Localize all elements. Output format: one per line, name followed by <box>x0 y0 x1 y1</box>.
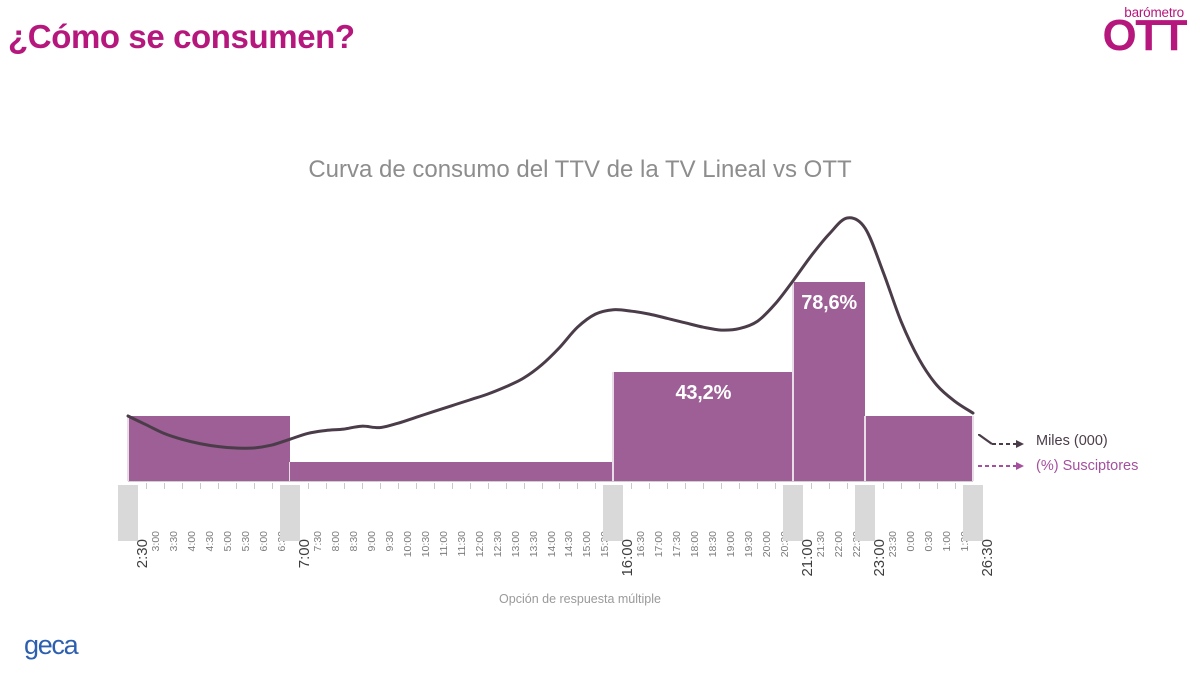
x-tick-mark <box>847 483 848 489</box>
x-tick-mark <box>488 483 489 489</box>
x-axis-label: 9:00 <box>366 531 378 551</box>
x-tick-mark <box>218 483 219 489</box>
bar-separator <box>127 416 129 481</box>
x-axis-label: 12:30 <box>492 531 504 557</box>
x-axis-label: 3:00 <box>150 531 162 551</box>
x-tick-mark <box>236 483 237 489</box>
x-tick-mark <box>919 483 920 489</box>
x-axis-label: 19:30 <box>743 531 755 557</box>
legend-item-miles[interactable]: Miles (000) <box>978 428 1193 453</box>
bar-segment[interactable] <box>865 416 973 481</box>
x-axis-label: 6:00 <box>258 531 270 551</box>
x-tick-mark <box>757 483 758 489</box>
bar-separator <box>289 462 291 481</box>
bar-segment[interactable] <box>290 462 614 481</box>
x-tick-mark <box>542 483 543 489</box>
bar-separator <box>792 282 794 481</box>
x-tick-mark <box>344 483 345 489</box>
x-tick-mark <box>703 483 704 489</box>
x-tick-mark <box>559 483 560 489</box>
bar-segment[interactable] <box>613 372 793 481</box>
x-axis-label: 13:30 <box>528 531 540 557</box>
x-axis-label: 23:30 <box>887 531 899 557</box>
bar-segment[interactable] <box>793 282 865 481</box>
x-tick-mark <box>272 483 273 489</box>
x-tick-mark <box>721 483 722 489</box>
x-tick-highlight <box>280 485 300 541</box>
x-tick-highlight <box>963 485 983 541</box>
logo-ott-text: OTT <box>1061 14 1186 58</box>
bar-value-label: 43,2% <box>613 382 793 405</box>
x-axis-label: 21:30 <box>815 531 827 557</box>
x-tick-mark <box>506 483 507 489</box>
x-axis-label: 17:00 <box>653 531 665 557</box>
x-tick-mark <box>200 483 201 489</box>
x-tick-mark <box>380 483 381 489</box>
x-axis-label: 10:30 <box>420 531 432 557</box>
x-axis-label: 7:00 <box>296 539 313 568</box>
x-tick-mark <box>416 483 417 489</box>
x-axis-label: 11:00 <box>438 531 450 557</box>
x-tick-mark <box>883 483 884 489</box>
x-tick-mark <box>398 483 399 489</box>
x-axis-label: 2:30 <box>134 539 151 568</box>
consumption-curve <box>0 0 1200 678</box>
x-axis-label: 4:30 <box>204 531 216 551</box>
x-axis-label: 9:30 <box>384 531 396 551</box>
x-axis-label: 8:30 <box>348 531 360 551</box>
bar-segment[interactable] <box>128 416 290 481</box>
x-axis-label: 21:00 <box>799 539 816 577</box>
chart-legend: Miles (000) (%) Susciptores <box>978 428 1193 478</box>
x-tick-mark <box>595 483 596 489</box>
bar-separator <box>864 416 866 481</box>
x-tick-mark <box>254 483 255 489</box>
x-tick-mark <box>434 483 435 489</box>
x-tick-highlight <box>855 485 875 541</box>
x-axis-label: 20:00 <box>761 531 773 557</box>
chart-plot-area: 43,2%78,6% <box>0 0 1200 678</box>
x-tick-mark <box>182 483 183 489</box>
x-axis-label: 5:30 <box>240 531 252 551</box>
x-tick-mark <box>649 483 650 489</box>
x-tick-mark <box>901 483 902 489</box>
chart-title: Curva de consumo del TTV de la TV Lineal… <box>0 156 1160 184</box>
dashed-arrow-icon <box>978 434 1030 448</box>
legend-label-susciptores: (%) Susciptores <box>1030 458 1138 474</box>
bar-separator <box>612 372 614 481</box>
x-tick-mark <box>470 483 471 489</box>
barometro-ott-logo: barómetro OTT <box>1061 6 1186 58</box>
x-axis-label: 15:00 <box>581 531 593 557</box>
x-tick-mark <box>524 483 525 489</box>
x-axis-label: 16:00 <box>619 539 636 577</box>
x-axis-label: 18:00 <box>689 531 701 557</box>
x-axis-label: 16:30 <box>635 531 647 557</box>
x-axis-label: 17:30 <box>671 531 683 557</box>
x-axis-label: 12:00 <box>474 531 486 557</box>
x-axis-label: 18:30 <box>707 531 719 557</box>
x-axis-label: 0:30 <box>923 531 935 551</box>
x-tick-mark <box>362 483 363 489</box>
x-tick-highlight <box>603 485 623 541</box>
x-tick-mark <box>811 483 812 489</box>
x-axis-label: 10:00 <box>402 531 414 557</box>
x-tick-mark <box>739 483 740 489</box>
x-tick-mark <box>937 483 938 489</box>
slide-root: ¿Cómo se consumen? barómetro OTT Curva d… <box>0 0 1200 678</box>
x-axis-label: 19:00 <box>725 531 737 557</box>
x-tick-mark <box>955 483 956 489</box>
x-tick-mark <box>685 483 686 489</box>
x-axis-label: 8:00 <box>330 531 342 551</box>
legend-label-miles: Miles (000) <box>1030 433 1108 449</box>
axis-baseline <box>128 481 973 482</box>
chart-footnote: Opción de respuesta múltiple <box>0 592 1160 606</box>
x-axis-label: 13:00 <box>510 531 522 557</box>
bar-separator <box>972 416 974 481</box>
x-tick-mark <box>775 483 776 489</box>
x-axis-label: 23:00 <box>871 539 888 577</box>
x-tick-mark <box>577 483 578 489</box>
x-tick-mark <box>829 483 830 489</box>
x-axis-label: 11:30 <box>456 531 468 557</box>
x-tick-mark <box>667 483 668 489</box>
x-tick-mark <box>308 483 309 489</box>
x-axis-label: 26:30 <box>979 539 996 577</box>
x-axis-label: 22:00 <box>833 531 845 557</box>
x-axis-label: 0:00 <box>905 531 917 551</box>
x-tick-highlight <box>783 485 803 541</box>
dashed-arrow-icon <box>978 459 1030 473</box>
x-axis-label: 1:00 <box>941 531 953 551</box>
x-tick-mark <box>326 483 327 489</box>
geca-logo: geca <box>24 632 77 659</box>
x-tick-mark <box>452 483 453 489</box>
x-axis-label: 14:00 <box>546 531 558 557</box>
x-tick-mark <box>164 483 165 489</box>
x-axis-label: 3:30 <box>168 531 180 551</box>
x-tick-highlight <box>118 485 138 541</box>
x-axis-label: 4:00 <box>186 531 198 551</box>
x-axis-label: 14:30 <box>563 531 575 557</box>
x-axis: 2:303:003:304:004:305:005:306:006:307:00… <box>128 483 973 558</box>
x-axis-label: 7:30 <box>312 531 324 551</box>
legend-item-susciptores[interactable]: (%) Susciptores <box>978 453 1193 478</box>
page-title: ¿Cómo se consumen? <box>8 18 355 56</box>
x-axis-label: 5:00 <box>222 531 234 551</box>
x-tick-mark <box>146 483 147 489</box>
x-tick-mark <box>631 483 632 489</box>
bar-value-label: 78,6% <box>793 292 865 315</box>
